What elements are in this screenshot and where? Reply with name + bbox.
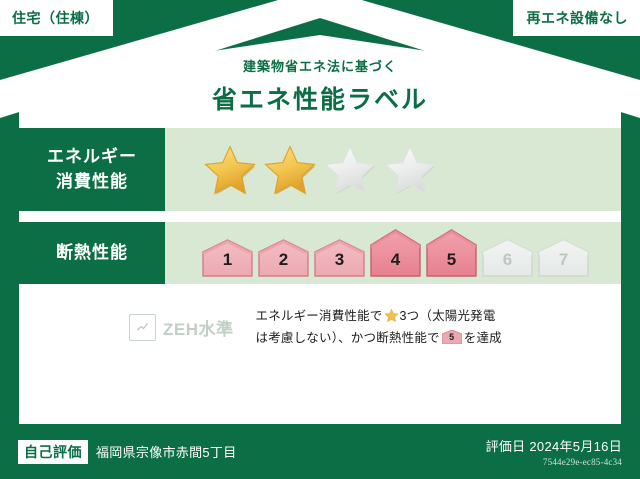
achievement-note-line2-part1: は考慮しない）、かつ断熱性能で	[256, 331, 440, 345]
insulation-grade-4: 4	[369, 229, 422, 277]
footer-right-group: 評価日 2024年5月16日 7544e29e-ec85-4c34	[486, 436, 622, 467]
insulation-grade-scale: 1234567	[201, 229, 590, 277]
zeh-check-icon	[129, 314, 156, 341]
zeh-standard-indicator: ZEH水準	[129, 314, 234, 341]
zeh-note-area: ZEH水準 エネルギー消費性能で3つ（太陽光発電 は考慮しない）、かつ断熱性能で…	[19, 306, 621, 350]
label-footer: 自己評価 福岡県宗像市赤間5丁目 評価日 2024年5月16日 7544e29e…	[0, 424, 640, 479]
insulation-grade-number: 7	[537, 250, 590, 270]
insulation-grade-number: 2	[257, 250, 310, 270]
row-energy-performance-label: エネルギー 消費性能	[19, 128, 165, 211]
achievement-note-line2-part2: を達成	[464, 331, 502, 345]
star-filled-icon	[201, 142, 259, 198]
label-title-block: 建築物省エネ法に基づく 省エネ性能ラベル	[0, 56, 640, 116]
row-energy-performance: エネルギー 消費性能	[19, 128, 621, 211]
tag-renewable-energy-label: 再エネ設備なし	[527, 8, 629, 28]
energy-label-root: 住宅（住棟） 再エネ設備なし 建築物省エネ法に基づく 省エネ性能ラベル エネルギ…	[0, 0, 640, 479]
row-insulation-performance: 断熱性能 1234567	[19, 222, 621, 284]
insulation-grade-2: 2	[257, 239, 310, 277]
metrics-panel: エネルギー 消費性能 断熱性能 1234567	[19, 128, 621, 424]
insulation-grade-5: 5	[425, 229, 478, 277]
inline-star-icon	[384, 308, 399, 323]
property-address: 福岡県宗像市赤間5丁目	[96, 442, 237, 461]
achievement-note-line1-part1: エネルギー消費性能で	[256, 309, 383, 323]
insulation-grade-1: 1	[201, 239, 254, 277]
insulation-grade-6: 6	[481, 239, 534, 277]
row-insulation-performance-value: 1234567	[165, 222, 621, 284]
star-rating	[201, 142, 439, 198]
inline-grade-badge-number: 5	[442, 330, 462, 344]
star-empty-icon	[321, 142, 379, 198]
evaluation-id: 7544e29e-ec85-4c34	[486, 457, 622, 467]
star-filled-icon	[261, 142, 319, 198]
tag-renewable-energy: 再エネ設備なし	[513, 0, 640, 36]
footer-left-group: 自己評価 福岡県宗像市赤間5丁目	[18, 440, 237, 464]
insulation-grade-number: 4	[369, 250, 422, 270]
row-insulation-performance-label-text: 断熱性能	[56, 241, 128, 266]
insulation-grade-number: 3	[313, 250, 366, 270]
achievement-note: エネルギー消費性能で3つ（太陽光発電 は考慮しない）、かつ断熱性能で5を達成	[256, 306, 502, 350]
self-evaluation-badge: 自己評価	[18, 440, 88, 464]
row-insulation-performance-label: 断熱性能	[19, 222, 165, 284]
insulation-grade-number: 6	[481, 250, 534, 270]
title-subtitle: 建築物省エネ法に基づく	[0, 56, 640, 75]
zeh-standard-label: ZEH水準	[163, 315, 234, 340]
tag-building-type: 住宅（住棟）	[0, 0, 113, 36]
inline-grade-badge: 5	[442, 330, 462, 344]
tag-building-type-label: 住宅（住棟）	[12, 8, 99, 28]
row-energy-performance-label-line1: エネルギー	[47, 145, 137, 170]
insulation-grade-7: 7	[537, 239, 590, 277]
insulation-grade-number: 1	[201, 250, 254, 270]
achievement-note-line1-part2: 3つ（太陽光発電	[400, 309, 496, 323]
page-title: 省エネ性能ラベル	[0, 80, 640, 116]
star-empty-icon	[381, 142, 439, 198]
row-energy-performance-label-line2: 消費性能	[56, 170, 128, 195]
insulation-grade-3: 3	[313, 239, 366, 277]
row-energy-performance-value	[165, 128, 621, 211]
evaluation-date: 評価日 2024年5月16日	[486, 436, 622, 455]
insulation-grade-number: 5	[425, 250, 478, 270]
